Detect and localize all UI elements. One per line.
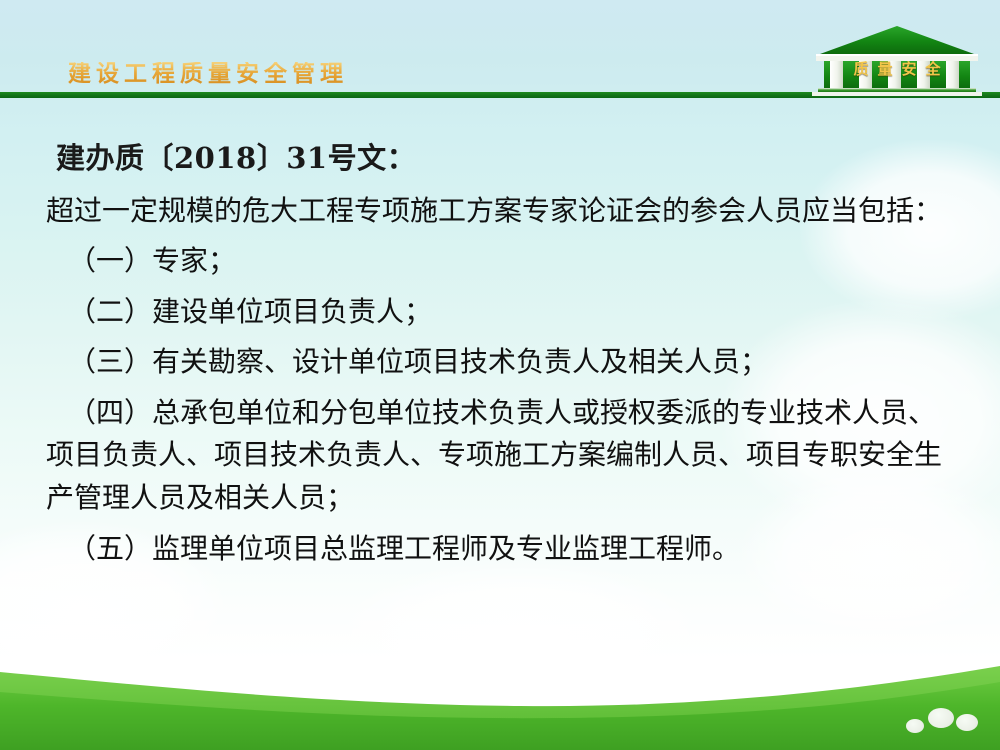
slide: 建设工程质量安全管理: [0, 0, 1000, 750]
sheep-decoration: [956, 714, 978, 731]
list-item: （五）监理单位项目总监理工程师及专业监理工程师。: [46, 528, 956, 571]
list-item: （三）有关勘察、设计单位项目技术负责人及相关人员；: [46, 341, 956, 384]
sheep-decoration: [928, 708, 954, 728]
lead-paragraph: 超过一定规模的危大工程专项施工方案专家论证会的参会人员应当包括：: [46, 190, 956, 233]
document-number-title: 建办质〔2018〕31号文：: [56, 140, 956, 178]
cloud-decoration: [330, 560, 710, 720]
quality-safety-temple-logo: 质量安全: [806, 24, 988, 96]
list-item: （二）建设单位项目负责人；: [46, 291, 956, 334]
grass-field-decoration: [0, 620, 1000, 750]
sheep-decoration: [906, 719, 924, 733]
list-item: （一）专家；: [46, 240, 956, 283]
slide-content: 建办质〔2018〕31号文： 超过一定规模的危大工程专项施工方案专家论证会的参会…: [46, 140, 956, 578]
list-item: （四）总承包单位和分包单位技术负责人或授权委派的专业技术人员、项目负责人、项目技…: [46, 392, 956, 520]
logo-label: 质量安全: [806, 62, 988, 77]
header-title: 建设工程质量安全管理: [68, 62, 348, 85]
